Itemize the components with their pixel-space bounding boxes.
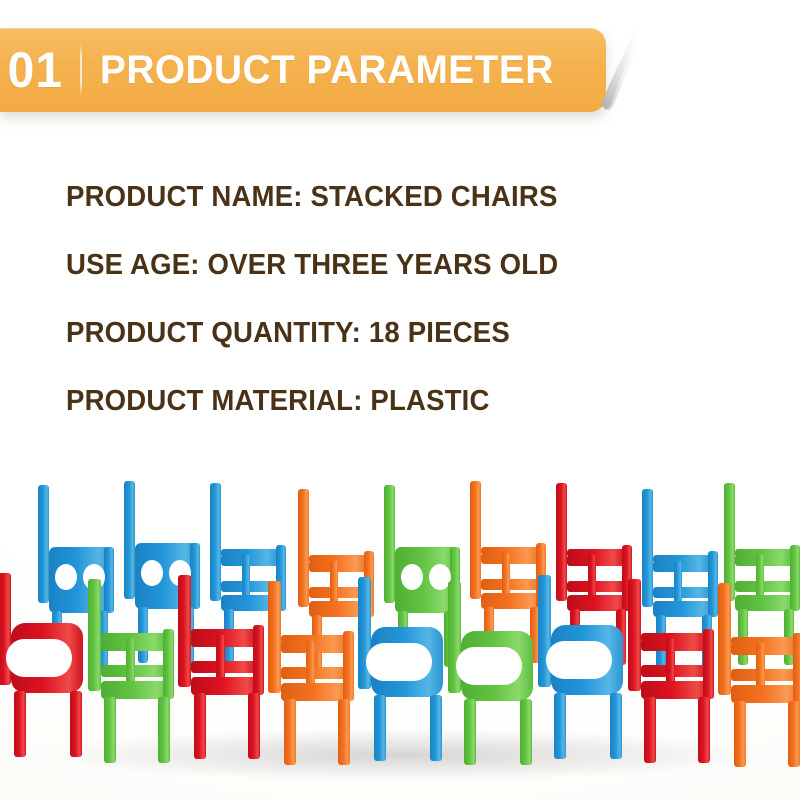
spec-line-product-material: PRODUCT MATERIAL: PLASTIC <box>66 367 731 435</box>
banner-ribbon: 01 PRODUCT PARAMETER <box>0 28 606 112</box>
banner-paper-fold-icon <box>596 0 666 130</box>
spec-line-product-name: PRODUCT NAME: STACKED CHAIRS <box>66 163 731 231</box>
banner-divider <box>80 44 82 96</box>
spec-line-use-age: USE AGE: OVER THREE YEARS OLD <box>66 231 731 299</box>
stacked-chairs-illustration <box>0 455 800 800</box>
banner-title: PRODUCT PARAMETER <box>100 50 554 90</box>
product-photo <box>0 455 800 800</box>
product-parameter-infographic: 01 PRODUCT PARAMETER <box>0 0 800 800</box>
spec-list: PRODUCT NAME: STACKED CHAIRS USE AGE: OV… <box>66 163 766 435</box>
section-banner: 01 PRODUCT PARAMETER <box>0 28 640 120</box>
banner-section-number: 01 <box>0 45 63 95</box>
spec-line-product-quantity: PRODUCT QUANTITY: 18 PIECES <box>66 299 731 367</box>
